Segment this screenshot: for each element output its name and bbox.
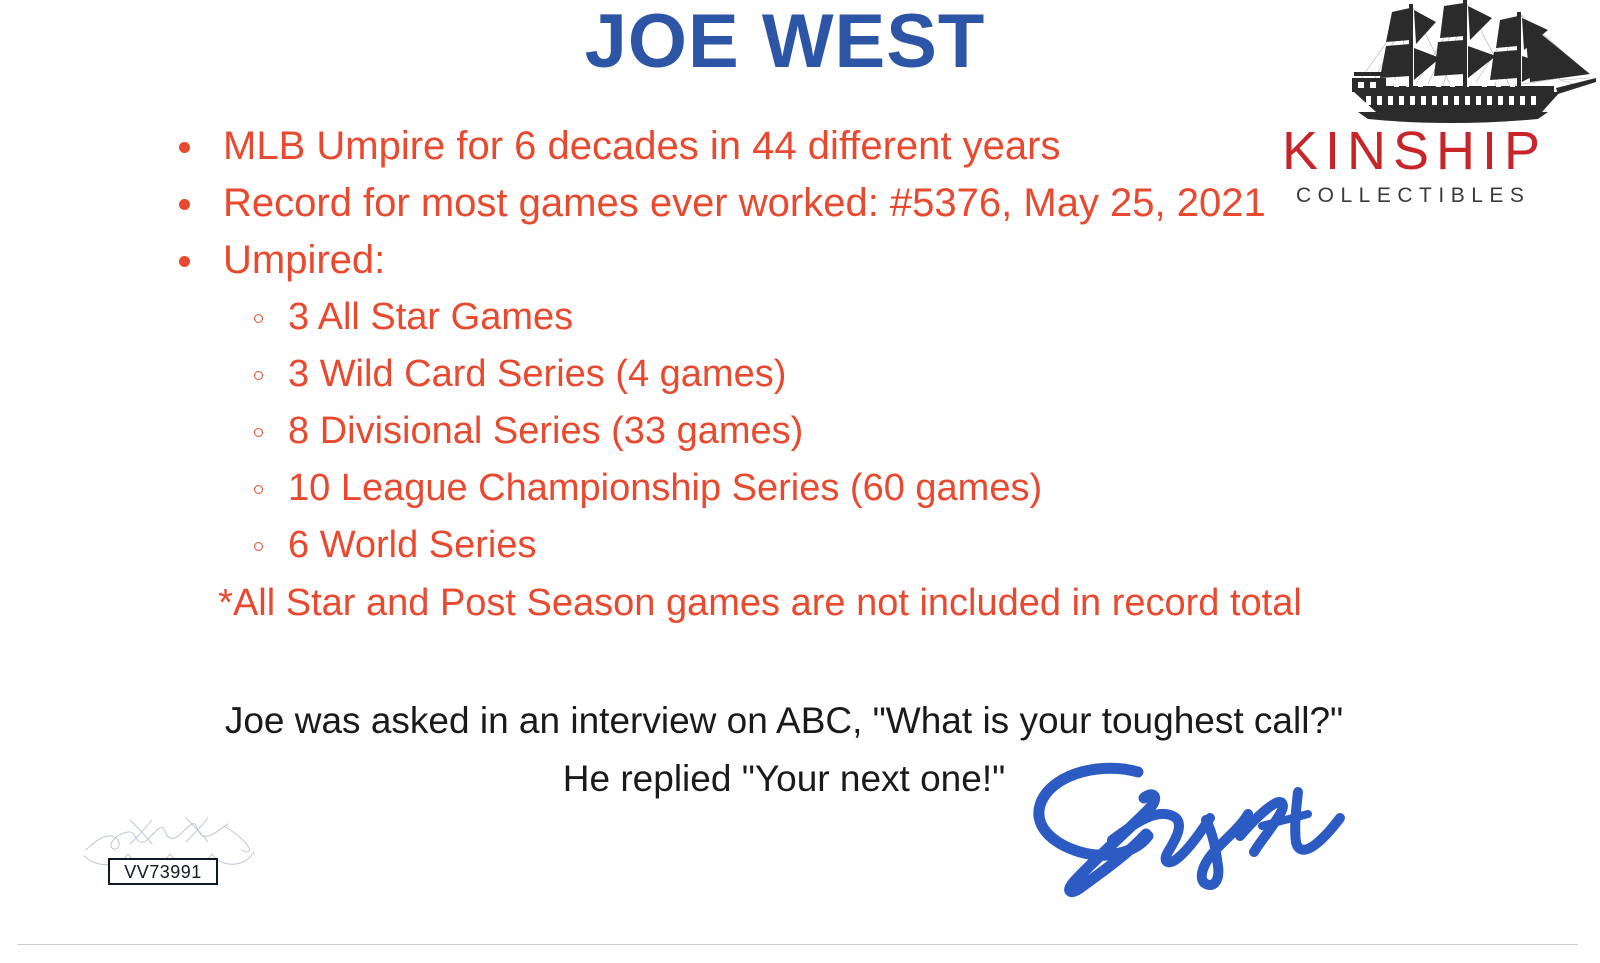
sub-list-item: 8 Divisional Series (33 games) <box>175 403 1435 460</box>
certificate-number: VV73991 <box>124 863 202 881</box>
bullet-dot-icon <box>179 256 190 267</box>
bullet-ring-icon <box>254 428 263 437</box>
quote-line-1: Joe was asked in an interview on ABC, "W… <box>0 692 1568 750</box>
bullet-ring-icon <box>254 314 263 323</box>
list-item-label: Umpired: <box>175 232 385 289</box>
sub-list-item-label: 6 World Series <box>175 517 537 574</box>
bullet-dot-icon <box>179 142 190 153</box>
quote-line-2: He replied "Your next one!" <box>0 750 1568 808</box>
sub-list-item: 10 League Championship Series (60 games) <box>175 460 1435 517</box>
list-item-label: Record for most games ever worked: #5376… <box>175 175 1266 232</box>
sub-list-item: 6 World Series <box>175 517 1435 574</box>
certificate-block: VV73991 <box>78 806 298 890</box>
sub-list-item-label: 3 All Star Games <box>175 289 573 346</box>
bottom-divider <box>18 944 1578 945</box>
list-item-label: MLB Umpire for 6 decades in 44 different… <box>175 118 1060 175</box>
bullet-ring-icon <box>254 542 263 551</box>
certificate-number-box: VV73991 <box>108 858 218 885</box>
fact-list: MLB Umpire for 6 decades in 44 different… <box>175 118 1435 574</box>
sub-list-item: 3 All Star Games <box>175 289 1435 346</box>
list-item: MLB Umpire for 6 decades in 44 different… <box>175 118 1435 175</box>
sub-list-item: 3 Wild Card Series (4 games) <box>175 346 1435 403</box>
footnote-text: *All Star and Post Season games are not … <box>0 578 1520 628</box>
sub-list-item-label: 8 Divisional Series (33 games) <box>175 403 803 460</box>
certificate-page: JOE WEST <box>0 0 1600 963</box>
sub-list-item-label: 10 League Championship Series (60 games) <box>175 460 1042 517</box>
bullet-ring-icon <box>254 485 263 494</box>
list-item: Record for most games ever worked: #5376… <box>175 175 1435 232</box>
sub-list-item-label: 3 Wild Card Series (4 games) <box>175 346 786 403</box>
bullet-dot-icon <box>179 199 190 210</box>
list-item: Umpired: <box>175 232 1435 289</box>
quote-block: Joe was asked in an interview on ABC, "W… <box>0 692 1568 808</box>
bullet-ring-icon <box>254 371 263 380</box>
tall-ship-icon <box>1324 0 1599 126</box>
